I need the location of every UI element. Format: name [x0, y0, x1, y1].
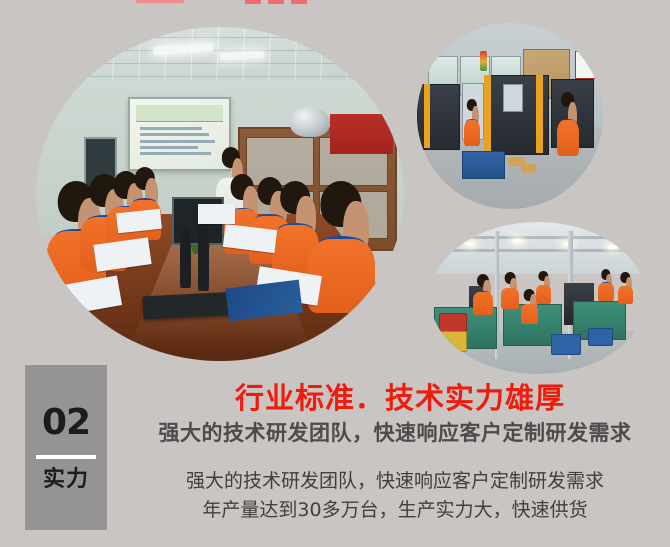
body-line-2: 年产量达到30多万台，生产实力大，快速供货: [120, 496, 670, 525]
top-decor-block-2: [268, 0, 284, 4]
top-decor-block-3: [291, 0, 307, 4]
badge-number: 02: [42, 405, 90, 441]
body-line-1: 强大的技术研发团队，快速响应客户定制研发需求: [120, 467, 670, 496]
badge-divider: [36, 455, 96, 459]
badge-label: 实力: [43, 469, 89, 491]
promo-section: 02 实力 行业标准．技术实力雄厚 强大的技术研发团队，快速响应客户定制研发需求…: [0, 0, 670, 547]
subheadline: 强大的技术研发团队，快速响应客户定制研发需求: [120, 421, 670, 446]
assembly-line-photo: [430, 222, 646, 374]
top-decor-block-1: [245, 0, 261, 4]
top-decor-line: [136, 0, 184, 3]
body-copy: 强大的技术研发团队，快速响应客户定制研发需求 年产量达到30多万台，生产实力大，…: [120, 467, 670, 526]
training-room-photo: [36, 27, 404, 361]
cnc-machining-photo: [417, 23, 603, 209]
section-number-badge: 02 实力: [25, 365, 107, 530]
section-text: 行业标准．技术实力雄厚 强大的技术研发团队，快速响应客户定制研发需求 强大的技术…: [120, 382, 670, 525]
headline: 行业标准．技术实力雄厚: [130, 382, 670, 415]
